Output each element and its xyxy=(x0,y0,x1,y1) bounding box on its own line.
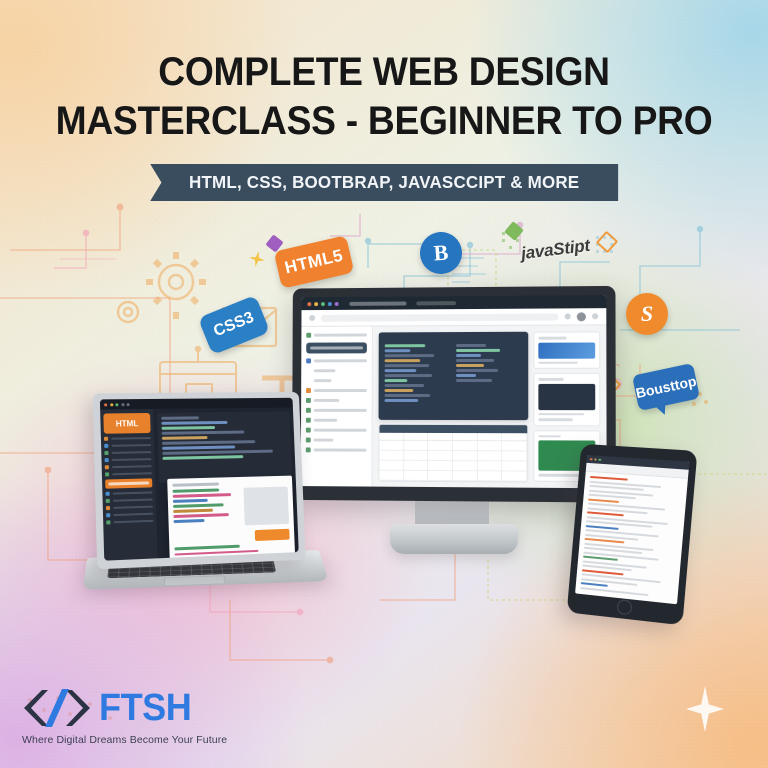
window-maximize-dot[interactable] xyxy=(321,302,325,306)
code-line xyxy=(385,379,408,382)
tablet-home-button[interactable] xyxy=(617,599,633,616)
back-arrow-icon[interactable] xyxy=(309,315,315,321)
code-line xyxy=(173,493,231,497)
avatar[interactable] xyxy=(577,312,586,321)
code-line xyxy=(385,399,419,402)
sidebar-item[interactable] xyxy=(105,457,152,462)
window-close-dot[interactable] xyxy=(590,458,593,461)
code-line xyxy=(456,344,486,347)
sidebar-item-label xyxy=(314,448,367,451)
data-table[interactable] xyxy=(378,424,528,483)
sidebar-item-label xyxy=(314,429,367,432)
card-text xyxy=(538,474,579,477)
laptop-screen: HTML xyxy=(100,398,299,561)
card-title xyxy=(538,337,566,340)
code-line xyxy=(385,374,432,377)
logo-wordmark: FTSH xyxy=(99,689,191,727)
code-line xyxy=(162,426,215,429)
sass-logo-icon: S xyxy=(626,293,668,335)
sidebar-item-active[interactable] xyxy=(306,342,367,353)
monitor-content-column xyxy=(378,332,528,483)
code-line xyxy=(385,364,429,367)
doc-heading xyxy=(581,582,608,587)
monitor-screen xyxy=(301,295,607,488)
laptop-device: HTML xyxy=(88,392,320,642)
panel-row xyxy=(173,486,290,528)
monitor-bezel-chin xyxy=(292,486,616,503)
sidebar-item[interactable] xyxy=(104,436,151,441)
code-line xyxy=(456,364,484,367)
browser-tab-1[interactable] xyxy=(349,301,406,305)
code-line xyxy=(173,513,229,517)
sidebar-item-label xyxy=(314,333,367,336)
sidebar-item[interactable] xyxy=(306,368,367,373)
card-text xyxy=(538,361,578,364)
sidebar-item-label xyxy=(113,520,153,524)
sidebar-item[interactable] xyxy=(105,471,152,476)
brand-logo: FTSH Where Digital Dreams Become Your Fu… xyxy=(22,687,227,746)
window-close-dot[interactable] xyxy=(307,302,311,306)
sidebar-icon xyxy=(306,358,311,363)
card-text xyxy=(538,418,572,421)
sidebar-icon xyxy=(106,499,110,503)
code-line xyxy=(385,354,434,357)
sidebar-item-label xyxy=(314,409,367,412)
laptop-editor-area xyxy=(153,407,299,558)
sidebar-item-label xyxy=(314,389,367,392)
code-line xyxy=(174,519,205,523)
panel-title xyxy=(172,482,219,486)
doc-heading xyxy=(590,476,628,481)
sidebar-icon xyxy=(104,444,108,448)
sidebar-item-label xyxy=(112,491,152,495)
promo-poster: COMPLETE WEB DESIGN MASTERCLASS - BEGINN… xyxy=(0,0,768,768)
logo-tagline: Where Digital Dreams Become Your Future xyxy=(22,734,227,746)
code-column-right xyxy=(456,337,522,415)
sidebar-item[interactable] xyxy=(306,358,367,363)
sidebar-item-label xyxy=(112,472,152,476)
sidebar-brand-logo: HTML xyxy=(103,413,150,434)
sidebar-item[interactable] xyxy=(106,505,153,511)
doc-heading xyxy=(587,511,623,516)
window-maximize-dot[interactable] xyxy=(598,458,601,461)
monitor-browser-urlbar xyxy=(301,308,606,327)
sidebar-icon xyxy=(104,451,108,455)
sidebar-item-label xyxy=(112,498,152,502)
code-line xyxy=(173,503,224,507)
code-line xyxy=(161,421,227,424)
tablet-document-content xyxy=(575,472,688,603)
sidebar-icon xyxy=(306,333,311,338)
window-extra-dot-2[interactable] xyxy=(335,302,339,306)
window-minimize-dot[interactable] xyxy=(314,302,318,306)
code-line xyxy=(162,431,245,435)
sidebar-icon xyxy=(105,465,109,469)
info-card[interactable] xyxy=(533,331,600,368)
sidebar-icon xyxy=(106,520,110,524)
sidebar-item-label xyxy=(111,458,151,461)
panel-code-list xyxy=(173,488,240,528)
code-line xyxy=(385,359,421,362)
browser-tab-2[interactable] xyxy=(416,301,456,305)
sidebar-item[interactable] xyxy=(104,443,151,448)
tablet-screen xyxy=(575,455,689,604)
monitor-main-panel xyxy=(372,325,606,488)
code-line xyxy=(456,374,476,377)
sidebar-item-label xyxy=(111,465,151,468)
code-column-left xyxy=(384,337,450,415)
sidebar-item-label xyxy=(113,505,153,509)
preview-panel[interactable] xyxy=(167,476,295,561)
window-extra-dot-1[interactable] xyxy=(121,403,124,406)
table-rows xyxy=(379,441,527,482)
card-thumbnail xyxy=(538,383,595,409)
table-row[interactable] xyxy=(379,441,527,452)
code-line xyxy=(173,488,220,492)
sidebar-icon xyxy=(105,458,109,462)
sidebar-item-label xyxy=(111,444,151,447)
sidebar-item-label xyxy=(310,346,363,349)
code-line xyxy=(175,549,259,555)
doc-heading xyxy=(588,498,619,502)
sidebar-item-label xyxy=(111,451,151,454)
sidebar-icon xyxy=(106,513,110,517)
code-line xyxy=(385,344,425,347)
monitor-app-body xyxy=(301,325,607,488)
address-bar-input[interactable] xyxy=(321,313,559,321)
laptop-ide-body: HTML xyxy=(100,407,299,560)
code-line xyxy=(162,445,235,449)
code-editor-panel[interactable] xyxy=(157,411,292,483)
sidebar-icon xyxy=(105,492,109,496)
tablet-device xyxy=(567,444,698,626)
sidebar-item[interactable] xyxy=(104,450,151,455)
window-maximize-dot[interactable] xyxy=(115,403,118,406)
sidebar-item[interactable] xyxy=(105,464,152,469)
code-line xyxy=(456,359,494,362)
window-minimize-dot[interactable] xyxy=(594,458,597,461)
sidebar-item-label xyxy=(108,482,149,486)
window-extra-dot-2[interactable] xyxy=(127,403,130,406)
sidebar-item-active[interactable] xyxy=(105,478,152,488)
code-line xyxy=(174,545,239,550)
code-line xyxy=(385,394,431,396)
code-line xyxy=(162,450,272,455)
code-line xyxy=(162,436,208,439)
sidebar-item[interactable] xyxy=(106,512,153,518)
code-line xyxy=(385,389,414,391)
code-line xyxy=(385,349,411,352)
sidebar-item-label xyxy=(111,437,151,440)
window-extra-dot-1[interactable] xyxy=(328,302,332,306)
laptop-lid: HTML xyxy=(92,392,305,569)
sidebar-item[interactable] xyxy=(106,519,153,525)
window-close-dot[interactable] xyxy=(104,403,107,406)
table-row[interactable] xyxy=(379,471,527,482)
code-line xyxy=(173,509,213,513)
sidebar-icon xyxy=(104,437,108,441)
laptop-trackpad[interactable] xyxy=(164,575,226,586)
sidebar-item-label xyxy=(314,379,332,382)
sidebar-item[interactable] xyxy=(306,332,367,337)
card-title xyxy=(538,435,561,438)
code-line xyxy=(385,369,416,372)
code-line xyxy=(456,354,481,357)
code-line xyxy=(162,455,243,459)
sidebar-item-label xyxy=(113,512,153,516)
code-line xyxy=(456,369,498,372)
code-line xyxy=(173,499,208,503)
code-line xyxy=(161,416,199,419)
code-brackets-icon xyxy=(22,687,92,729)
card-thumbnail xyxy=(538,342,595,358)
sidebar-icon xyxy=(105,472,109,476)
code-editor-panel[interactable] xyxy=(379,332,529,420)
sidebar-item[interactable] xyxy=(105,490,152,495)
menu-icon[interactable] xyxy=(592,313,598,319)
window-minimize-dot[interactable] xyxy=(110,403,113,406)
laptop-sidebar: HTML xyxy=(100,409,157,561)
code-line xyxy=(162,440,255,444)
sidebar-item[interactable] xyxy=(106,497,153,503)
card-text xyxy=(538,413,583,416)
monitor-stand-base xyxy=(390,524,518,554)
preview-card-dark[interactable] xyxy=(533,373,600,426)
doc-line xyxy=(580,587,648,596)
logo-row: FTSH xyxy=(22,687,227,729)
sidebar-item[interactable] xyxy=(306,378,367,383)
card-title xyxy=(538,378,563,381)
bookmark-icon[interactable] xyxy=(565,313,571,319)
code-line xyxy=(385,384,424,387)
sidebar-icon xyxy=(106,506,110,510)
code-line xyxy=(456,349,500,352)
primary-action-button[interactable] xyxy=(255,529,290,541)
desktop-monitor xyxy=(292,286,616,503)
sidebar-item-label xyxy=(314,359,367,362)
panel-preview-thumbnail xyxy=(243,486,289,525)
sidebar-item-label xyxy=(314,369,336,372)
code-line xyxy=(456,379,492,382)
